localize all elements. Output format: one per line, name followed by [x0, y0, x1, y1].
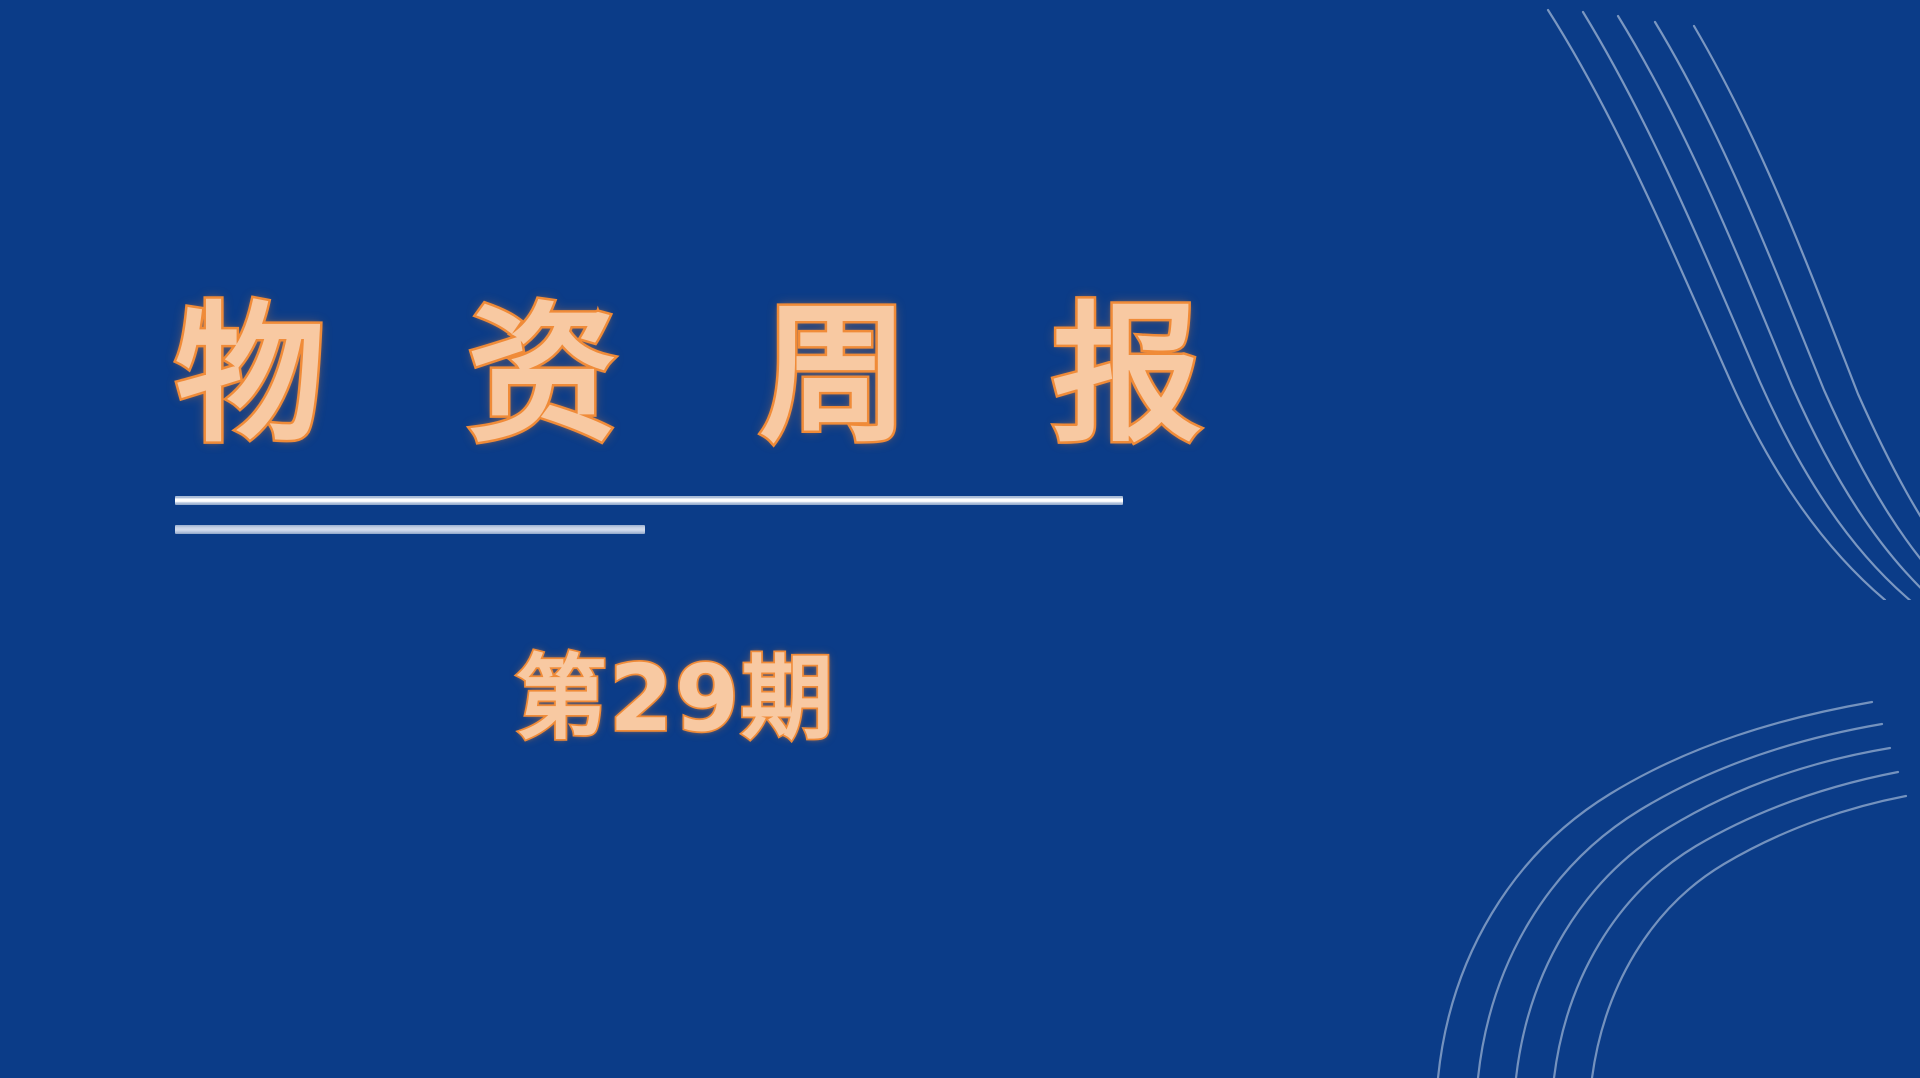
title-block: 物 资 周 报	[175, 292, 1175, 460]
wave-lines-top-right-icon	[1300, 0, 1920, 600]
wave-lines-bottom-right-icon	[1420, 658, 1920, 1078]
title-underline-group	[175, 496, 1175, 534]
title-underline-secondary	[175, 525, 645, 534]
title-underline-primary	[175, 496, 1123, 505]
issue-number-label: 第29期	[515, 648, 834, 749]
title-slide: 物 资 周 报 第29期	[0, 0, 1920, 1078]
page-title: 物 资 周 报	[175, 292, 1175, 460]
subtitle-block: 第29期	[175, 648, 1175, 749]
